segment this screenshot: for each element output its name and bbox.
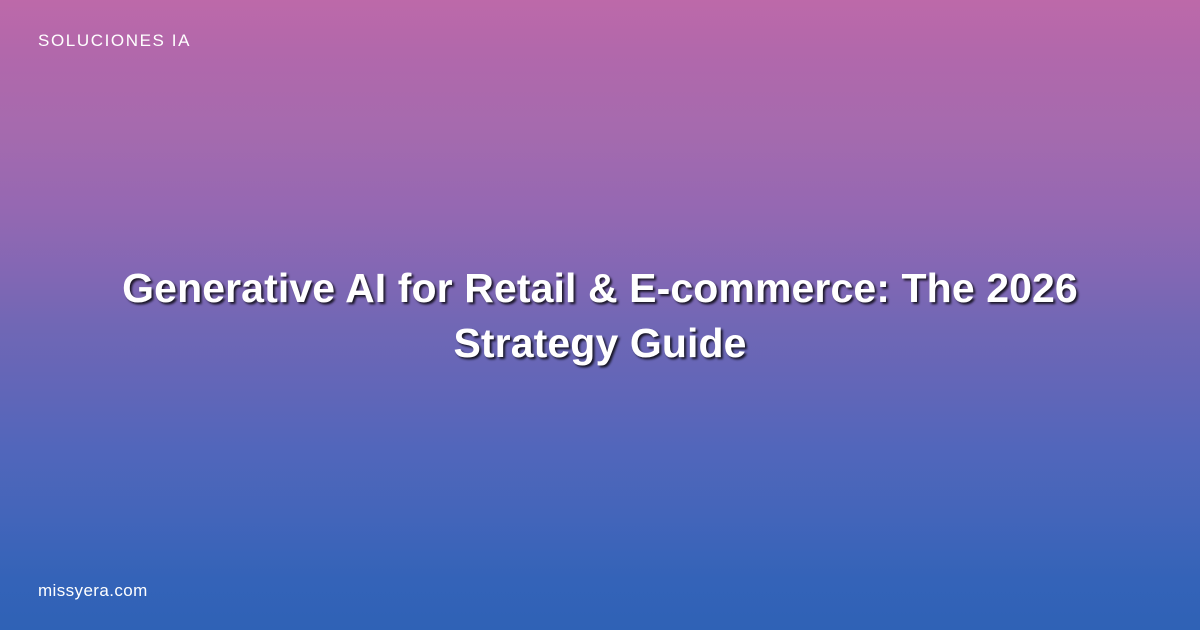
share-card: SOLUCIONES IA Generative AI for Retail &… [0, 0, 1200, 630]
site-domain-label: missyera.com [38, 580, 148, 602]
headline-container: Generative AI for Retail & E-commerce: T… [0, 52, 1200, 580]
footer-row: missyera.com [0, 580, 1200, 630]
brand-row: SOLUCIONES IA [0, 0, 1200, 52]
brand-label: SOLUCIONES IA [38, 30, 191, 52]
page-title: Generative AI for Retail & E-commerce: T… [110, 261, 1090, 371]
